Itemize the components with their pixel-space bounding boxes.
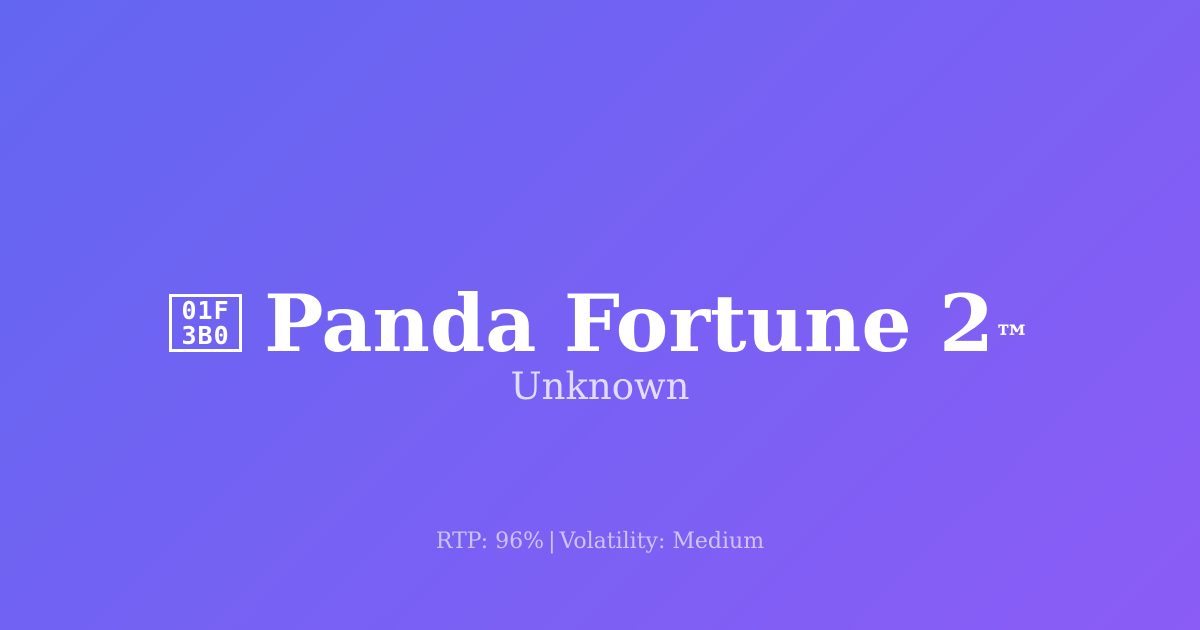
tofu-rows: 01F 3B0 [172, 297, 239, 349]
volatility-stat: Volatility: Medium [560, 529, 765, 554]
game-meta-line: RTP: 96%|Volatility: Medium [0, 528, 1200, 556]
tofu-row-bottom: 3B0 [181, 323, 229, 348]
rtp-stat: RTP: 96% [436, 529, 544, 554]
slot-machine-icon: 01F 3B0 [169, 294, 242, 352]
meta-separator: | [544, 529, 559, 554]
game-subtitle: Unknown [0, 367, 1200, 407]
og-card: 01F 3B0 Panda Fortune 2™ Unknown RTP: 96… [0, 0, 1200, 630]
trademark-symbol: ™ [994, 321, 1031, 357]
page-title: 01F 3B0 Panda Fortune 2™ [169, 284, 1031, 363]
tofu-row-top: 01F [181, 298, 229, 323]
game-title-text: Panda Fortune 2 [264, 284, 994, 363]
